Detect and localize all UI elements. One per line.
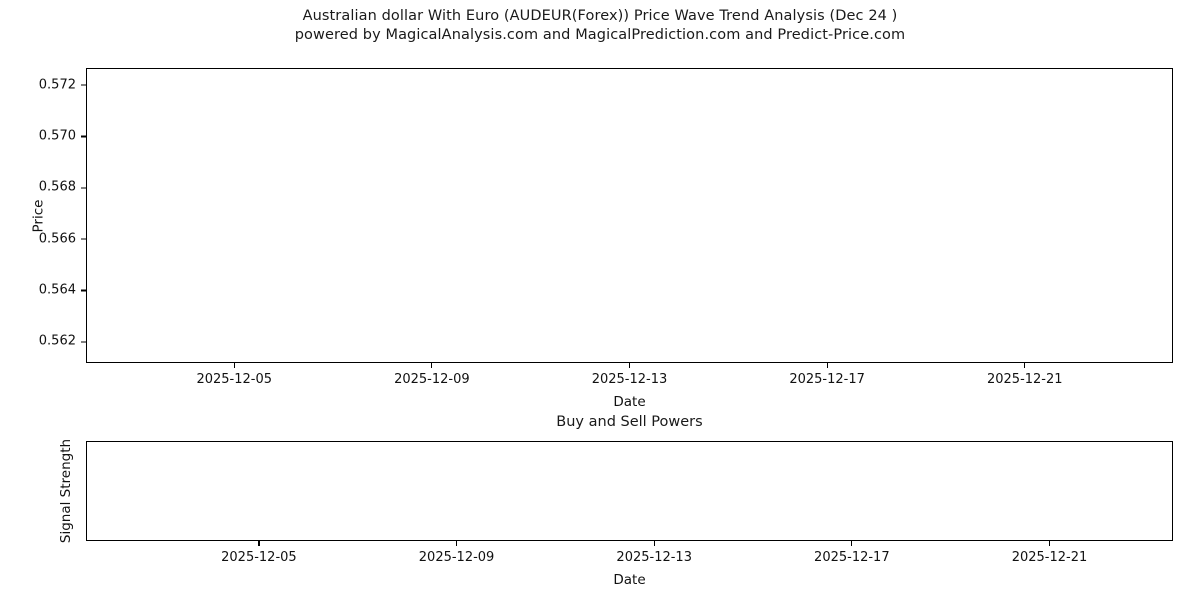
x-tick-mark [654, 541, 655, 546]
y-tick-label: 0.570 [39, 128, 76, 143]
main-y-axis-label: Price [30, 199, 46, 232]
title-line-2: powered by MagicalAnalysis.com and Magic… [0, 26, 1200, 45]
main-x-axis-label: Date [613, 394, 645, 410]
x-tick-label: 2025-12-09 [419, 550, 495, 565]
y-tick-mark [81, 136, 86, 137]
y-tick-label: 0.568 [39, 180, 76, 195]
x-tick-label: 2025-12-13 [616, 550, 692, 565]
x-tick-label: 2025-12-05 [196, 372, 272, 387]
y-tick-mark [81, 239, 86, 240]
main-axes-frame [86, 68, 1173, 363]
x-tick-mark [258, 541, 259, 546]
x-tick-label: 2025-12-13 [592, 372, 668, 387]
x-tick-mark [851, 541, 852, 546]
x-tick-mark [234, 363, 235, 368]
chart-page: Australian dollar With Euro (AUDEUR(Fore… [0, 0, 1200, 600]
title-line-1: Australian dollar With Euro (AUDEUR(Fore… [0, 7, 1200, 26]
page-title: Australian dollar With Euro (AUDEUR(Fore… [0, 7, 1200, 45]
y-tick-label: 0.562 [39, 334, 76, 349]
y-tick-mark [81, 341, 86, 342]
x-tick-mark [827, 363, 828, 368]
x-tick-label: 2025-12-17 [789, 372, 865, 387]
x-tick-label: 2025-12-21 [987, 372, 1063, 387]
price-wave-chart: MagicalAnalysis.com MagicalPrediction.co… [86, 68, 1173, 363]
power-chart-title: Buy and Sell Powers [86, 414, 1173, 430]
power-x-axis-label: Date [613, 572, 645, 588]
power-axes-frame [86, 441, 1173, 541]
x-tick-mark [1049, 541, 1050, 546]
x-tick-mark [629, 363, 630, 368]
y-tick-label: 0.564 [39, 282, 76, 297]
x-tick-label: 2025-12-17 [814, 550, 890, 565]
x-tick-label: 2025-12-09 [394, 372, 470, 387]
y-tick-mark [81, 85, 86, 86]
y-tick-label: 0.572 [39, 77, 76, 92]
x-tick-mark [431, 363, 432, 368]
buy-sell-power-chart: Buy and Sell Powers MagicalAnalysis.com … [86, 441, 1173, 541]
x-tick-label: 2025-12-05 [221, 550, 297, 565]
y-tick-mark [81, 290, 86, 291]
x-tick-mark [456, 541, 457, 546]
y-tick-label: 0.566 [39, 231, 76, 246]
power-y-axis-label: Signal Strength [58, 439, 74, 543]
y-tick-mark [81, 187, 86, 188]
x-tick-label: 2025-12-21 [1012, 550, 1088, 565]
x-tick-mark [1024, 363, 1025, 368]
